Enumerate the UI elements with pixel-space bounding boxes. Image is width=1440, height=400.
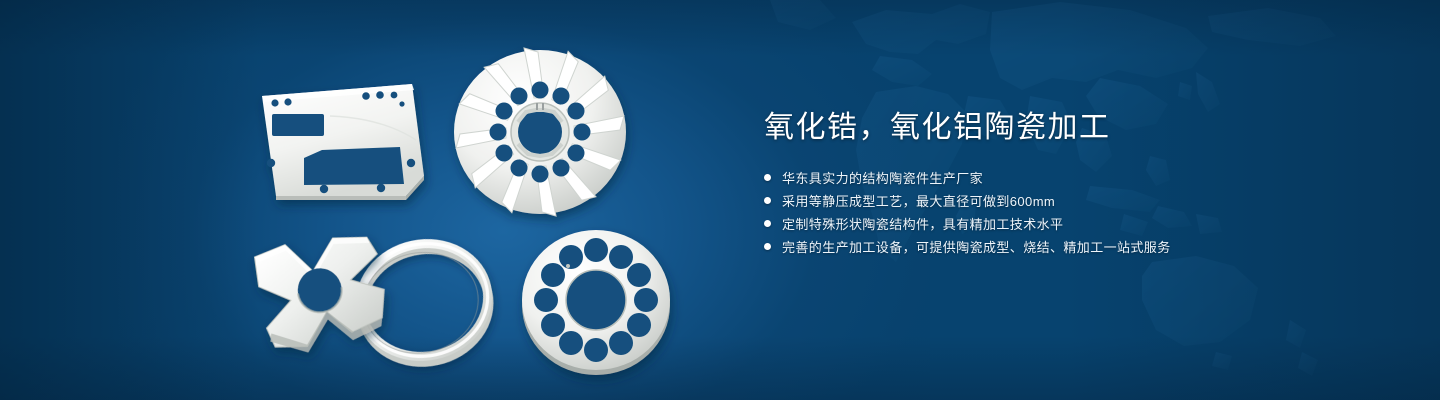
product-ceramic-perforated-disc <box>522 230 670 375</box>
hero-banner: 氧化锆，氧化铝陶瓷加工 华东具实力的结构陶瓷件生产厂家 采用等静压成型工艺，最大… <box>0 0 1440 400</box>
page-title: 氧化锆，氧化铝陶瓷加工 <box>764 108 1324 148</box>
bullet-dot-icon <box>764 243 771 250</box>
list-item: 华东具实力的结构陶瓷件生产厂家 <box>764 166 1324 189</box>
bullet-dot-icon <box>764 197 771 204</box>
bullet-dot-icon <box>764 220 771 227</box>
feature-text: 采用等静压成型工艺，最大直径可做到600mm <box>782 191 1055 210</box>
product-collage <box>0 0 720 400</box>
list-item: 采用等静压成型工艺，最大直径可做到600mm <box>764 189 1324 212</box>
banner-copy: 氧化锆，氧化铝陶瓷加工 华东具实力的结构陶瓷件生产厂家 采用等静压成型工艺，最大… <box>764 108 1324 258</box>
feature-text: 华东具实力的结构陶瓷件生产厂家 <box>782 168 983 187</box>
list-item: 定制特殊形状陶瓷结构件，具有精加工技术水平 <box>764 212 1324 235</box>
list-item: 完善的生产加工设备，可提供陶瓷成型、烧结、精加工一站式服务 <box>764 235 1324 258</box>
product-ceramic-plate <box>262 84 424 200</box>
feature-text: 完善的生产加工设备，可提供陶瓷成型、烧结、精加工一站式服务 <box>782 237 1171 256</box>
feature-list: 华东具实力的结构陶瓷件生产厂家 采用等静压成型工艺，最大直径可做到600mm 定… <box>764 166 1324 258</box>
product-ceramic-impeller <box>454 48 626 216</box>
bullet-dot-icon <box>764 174 771 181</box>
feature-text: 定制特殊形状陶瓷结构件，具有精加工技术水平 <box>782 214 1063 233</box>
